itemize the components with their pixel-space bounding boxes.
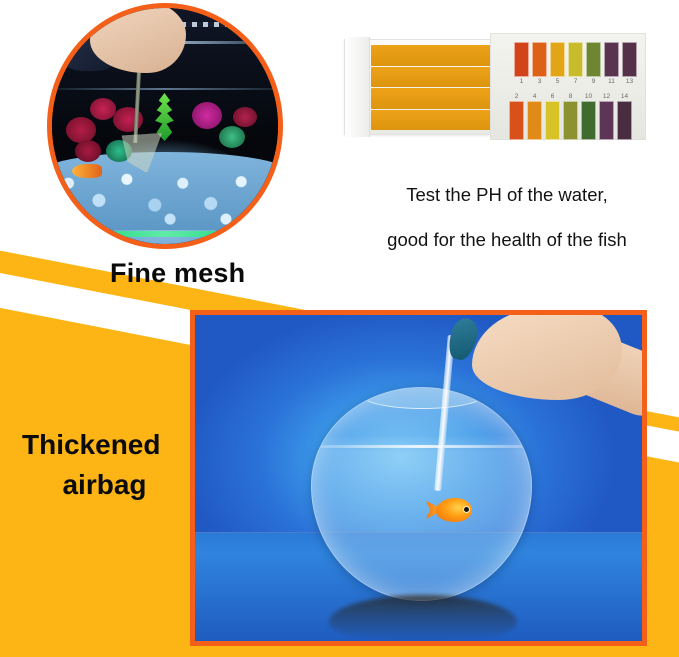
green-light-strip	[66, 231, 265, 237]
ph-test-caption: Test the PH of the water, good for the h…	[352, 172, 662, 263]
ph-value-label: 6	[545, 92, 560, 101]
ph-chart-row-even: 2468101214	[509, 92, 632, 140]
ph-value-label: 10	[581, 92, 596, 101]
ph-chart-cell: 13	[622, 42, 637, 86]
ph-chart-cell: 9	[586, 42, 601, 86]
red-plant-icon	[66, 117, 96, 143]
ph-chart-cell: 11	[604, 42, 619, 86]
bowl-reflection	[329, 595, 517, 641]
ph-chart-row-odd: 135791113	[514, 42, 637, 86]
ph-value-label: 2	[509, 92, 524, 101]
red-plant-icon	[233, 107, 257, 127]
ph-test-strip-photo: 135791113 2468101214	[344, 25, 644, 150]
ph-color-swatch	[604, 42, 619, 77]
ph-value-label: 7	[568, 77, 583, 86]
ph-strip-stack	[371, 45, 493, 130]
ph-strip-booklet	[344, 39, 510, 135]
ph-color-comparison-card: 135791113 2468101214	[490, 33, 646, 140]
ph-color-swatch	[568, 42, 583, 77]
ph-chart-cell: 3	[532, 42, 547, 86]
ph-value-label: 13	[622, 77, 637, 86]
ph-color-swatch	[550, 42, 565, 77]
hand-icon	[90, 3, 186, 73]
ph-chart-cell: 8	[563, 92, 578, 140]
ph-value-label: 9	[586, 77, 601, 86]
fish-bowl	[311, 387, 532, 601]
ph-color-swatch	[563, 101, 578, 140]
booklet-flap	[345, 37, 370, 137]
ph-test-strip	[371, 67, 493, 88]
ph-value-label: 4	[527, 92, 542, 101]
ph-chart-cell: 7	[568, 42, 583, 86]
fine-mesh-circle-photo	[47, 3, 283, 249]
ph-test-strip	[371, 45, 493, 66]
fine-mesh-label: Fine mesh	[110, 258, 245, 289]
ph-value-label: 1	[514, 77, 529, 86]
ph-color-swatch	[622, 42, 637, 77]
ph-value-label: 12	[599, 92, 614, 101]
ph-color-swatch	[545, 101, 560, 140]
ph-chart-cell: 10	[581, 92, 596, 140]
ph-chart-cell: 5	[550, 42, 565, 86]
ph-color-swatch	[617, 101, 632, 140]
ph-value-label: 11	[604, 77, 619, 86]
ph-chart-cell: 6	[545, 92, 560, 140]
thickened-airbag-label-line2: airbag	[22, 465, 187, 505]
bowl-opening	[360, 387, 485, 409]
ph-test-strip	[371, 110, 493, 131]
ph-value-label: 14	[617, 92, 632, 101]
ph-caption-line1: Test the PH of the water,	[352, 172, 662, 217]
ph-value-label: 5	[550, 77, 565, 86]
ph-color-swatch	[514, 42, 529, 77]
thickened-airbag-label-line1: Thickened	[22, 425, 187, 465]
goldfish-icon	[426, 498, 476, 522]
goldfish-icon	[72, 164, 102, 178]
ph-chart-cell: 14	[617, 92, 632, 140]
ph-value-label: 3	[532, 77, 547, 86]
main-fishbowl-photo	[190, 310, 647, 646]
ph-color-swatch	[532, 42, 547, 77]
water-line	[319, 445, 525, 448]
ph-chart-cell: 1	[514, 42, 529, 86]
red-plant-icon	[75, 140, 101, 162]
goldfish-eye	[463, 506, 470, 513]
tank-rim-middle	[52, 88, 278, 90]
ph-chart-cell: 12	[599, 92, 614, 140]
thickened-airbag-label: Thickened airbag	[22, 425, 187, 505]
ph-caption-line2: good for the health of the fish	[352, 217, 662, 262]
ph-color-swatch	[586, 42, 601, 77]
ph-color-swatch	[581, 101, 596, 140]
ph-color-swatch	[599, 101, 614, 140]
ph-color-swatch	[527, 101, 542, 140]
ph-test-strip	[371, 88, 493, 109]
ph-chart-cell: 4	[527, 92, 542, 140]
hand-icon	[472, 310, 622, 400]
ph-chart-cell: 2	[509, 92, 524, 140]
aquarium-led-light	[170, 22, 274, 27]
ph-color-swatch	[509, 101, 524, 140]
ph-value-label: 8	[563, 92, 578, 101]
pebble-substrate	[311, 511, 532, 600]
product-infographic: Fine mesh Thickened airbag 135791113 246…	[0, 0, 679, 657]
